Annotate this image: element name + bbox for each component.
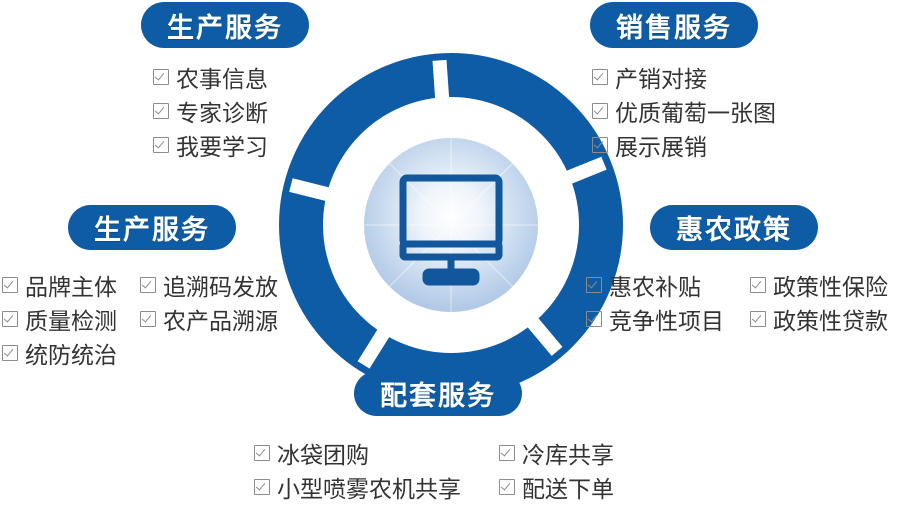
checkbox-icon xyxy=(586,311,602,327)
donut-ring-svg xyxy=(276,50,626,400)
list-item[interactable]: 专家诊断 xyxy=(153,96,268,130)
checkbox-icon xyxy=(586,277,602,293)
list-item[interactable]: 统防统治 xyxy=(2,338,140,372)
list-item[interactable]: 品牌主体 xyxy=(2,270,140,304)
list-item-label: 农产品溯源 xyxy=(163,304,278,338)
checkbox-icon xyxy=(750,277,766,293)
list-item[interactable]: 竞争性项目 xyxy=(586,304,750,338)
list-item[interactable]: 追溯码发放 xyxy=(140,270,278,304)
list-column-1: 惠农补贴 竞争性项目 xyxy=(586,270,750,338)
section-header-production-mgmt[interactable]: 生产服务 xyxy=(68,205,236,250)
checkbox-icon xyxy=(2,311,18,327)
list-support-service: 冰袋团购 小型喷雾农机共享 冷库共享 配送下单 xyxy=(254,438,614,506)
list-item-label: 惠农补贴 xyxy=(609,270,701,304)
list-item-label: 专家诊断 xyxy=(176,96,268,130)
list-production-mgmt: 品牌主体 质量检测 统防统治 追溯码发放 农产品溯源 xyxy=(2,270,278,372)
list-item-label: 展示展销 xyxy=(615,130,707,164)
section-header-support-service[interactable]: 配套服务 xyxy=(354,371,522,416)
list-column-1: 冰袋团购 小型喷雾农机共享 xyxy=(254,438,499,506)
checkbox-icon xyxy=(2,345,18,361)
list-item-label: 我要学习 xyxy=(176,130,268,164)
checkbox-icon xyxy=(499,479,515,495)
list-item[interactable]: 农事信息 xyxy=(153,62,268,96)
checkbox-icon xyxy=(153,69,169,85)
list-production-service: 农事信息 专家诊断 我要学习 xyxy=(153,62,268,164)
section-header-benefit-policy[interactable]: 惠农政策 xyxy=(650,205,818,250)
list-item-label: 统防统治 xyxy=(25,338,117,372)
checkbox-icon xyxy=(254,479,270,495)
checkbox-icon xyxy=(592,137,608,153)
checkbox-icon xyxy=(2,277,18,293)
list-item-label: 配送下单 xyxy=(522,472,614,506)
checkbox-icon xyxy=(153,103,169,119)
core-ray-fade xyxy=(364,138,538,312)
section-header-sales-service[interactable]: 销售服务 xyxy=(590,2,758,48)
list-item-label: 优质葡萄一张图 xyxy=(615,96,776,130)
list-sales-service: 产销对接 优质葡萄一张图 展示展销 xyxy=(592,62,776,164)
list-item-label: 品牌主体 xyxy=(25,270,117,304)
section-header-production-service[interactable]: 生产服务 xyxy=(141,2,309,48)
list-item-label: 冰袋团购 xyxy=(277,438,369,472)
list-item-label: 质量检测 xyxy=(25,304,117,338)
checkbox-icon xyxy=(140,311,156,327)
list-column-1: 品牌主体 质量检测 统防统治 xyxy=(2,270,140,372)
list-item[interactable]: 惠农补贴 xyxy=(586,270,750,304)
list-item[interactable]: 我要学习 xyxy=(153,130,268,164)
list-item-label: 政策性贷款 xyxy=(773,304,888,338)
list-item-label: 小型喷雾农机共享 xyxy=(277,472,461,506)
list-item-label: 产销对接 xyxy=(615,62,707,96)
list-column-2: 政策性保险 政策性贷款 xyxy=(750,270,888,338)
infographic-canvas: 生产服务 农事信息 专家诊断 我要学习 销售服务 产销对接 优质葡萄一张图 展示… xyxy=(0,0,900,498)
list-column-2: 冷库共享 配送下单 xyxy=(499,438,614,506)
list-column-2: 追溯码发放 农产品溯源 xyxy=(140,270,278,372)
list-item[interactable]: 产销对接 xyxy=(592,62,776,96)
list-item[interactable]: 政策性保险 xyxy=(750,270,888,304)
list-item-label: 竞争性项目 xyxy=(609,304,724,338)
list-item[interactable]: 展示展销 xyxy=(592,130,776,164)
list-item-label: 政策性保险 xyxy=(773,270,888,304)
list-item[interactable]: 优质葡萄一张图 xyxy=(592,96,776,130)
list-item[interactable]: 冰袋团购 xyxy=(254,438,499,472)
list-item-label: 冷库共享 xyxy=(522,438,614,472)
center-ring-graphic xyxy=(276,50,626,400)
list-item[interactable]: 配送下单 xyxy=(499,472,614,506)
list-benefit-policy: 惠农补贴 竞争性项目 政策性保险 政策性贷款 xyxy=(586,270,888,338)
list-item[interactable]: 质量检测 xyxy=(2,304,140,338)
checkbox-icon xyxy=(254,445,270,461)
checkbox-icon xyxy=(592,69,608,85)
checkbox-icon xyxy=(750,311,766,327)
checkbox-icon xyxy=(140,277,156,293)
checkbox-icon xyxy=(153,137,169,153)
list-item[interactable]: 冷库共享 xyxy=(499,438,614,472)
list-item-label: 农事信息 xyxy=(176,62,268,96)
list-item[interactable]: 农产品溯源 xyxy=(140,304,278,338)
checkbox-icon xyxy=(499,445,515,461)
list-item[interactable]: 小型喷雾农机共享 xyxy=(254,472,499,506)
list-item[interactable]: 政策性贷款 xyxy=(750,304,888,338)
list-item-label: 追溯码发放 xyxy=(163,270,278,304)
checkbox-icon xyxy=(592,103,608,119)
